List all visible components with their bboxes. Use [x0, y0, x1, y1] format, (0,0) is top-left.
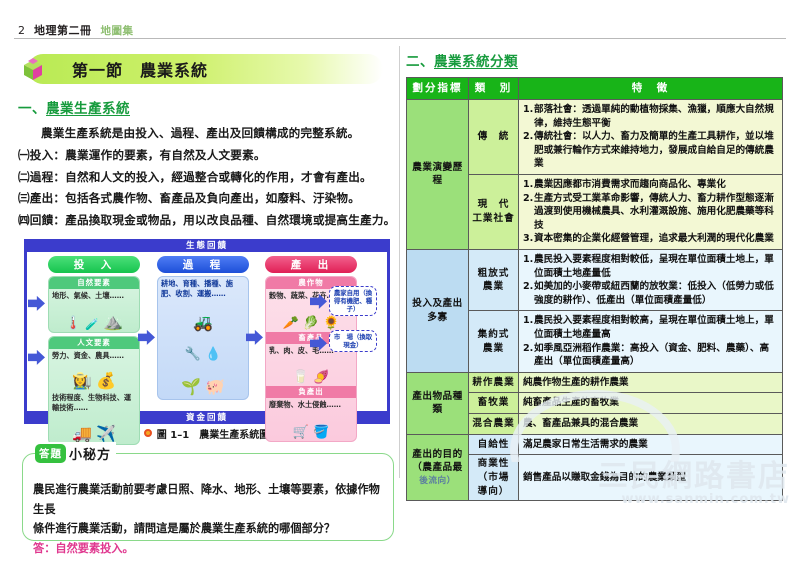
paragraph-feedback: ㈣回饋：產品換取現金或物品，用以改良品種、自然環境或提高生產力。: [18, 211, 397, 230]
stage-output-pill: 產 出: [265, 256, 357, 273]
left-column: 第一節 農業系統 一、農業生產系統 農業生產系統是由投入、過程、產出及回饋構成的…: [14, 46, 399, 556]
feedback-arrow-bottom: [28, 350, 45, 365]
cabbage-icon: 🥬: [303, 317, 319, 330]
stage-input-pill: 投 入: [48, 256, 140, 273]
paragraph-input: ㈠投入：農業運作的要素，有自然及人文要素。: [18, 146, 397, 165]
header-criterion: 劃分指標: [407, 78, 469, 100]
tip-answer: 答：自然要素投入。: [33, 539, 385, 559]
features-intensive: 1.農民投入要素程度相對較高，呈現在單位面積土地上，單位面積土地產量高 2.如季…: [519, 311, 783, 372]
features-cropping: 純農作物生產的耕作農業: [519, 372, 783, 393]
airplane-icon: ✈️: [96, 426, 116, 442]
input-natural-icons: 🌡️ 🧪 ⛰️: [49, 302, 139, 332]
money-bag-icon: 💰: [96, 373, 116, 389]
category-livestock: 畜牧業: [469, 393, 519, 414]
page-number: 2: [18, 24, 25, 37]
tip-title: 小秘方: [69, 444, 111, 463]
right-column: 二、農業系統分類 劃分指標 類 別 特 徵 農業演變歷程 傳 統 1.部落: [404, 46, 789, 556]
category-traditional: 傳 統: [469, 99, 519, 174]
input-natural-text: 地形、氣候、土壤……: [49, 289, 139, 302]
figure-caption-text: 圖 1–1 農業生產系統圖: [157, 426, 269, 441]
table-row: 農業演變歷程 傳 統 1.部落社會：透過單純的動植物採集、漁獵，順應大自然規律，…: [407, 99, 783, 174]
list-item: 1.農民投入要素程度相對較高，呈現在單位面積土地上，單位面積土地產量高: [523, 314, 778, 341]
list-item: 1.部落社會：透過單純的動植物採集、漁獵，順應大自然規律，維持生態平衡: [523, 103, 778, 130]
input-human-icons: 👩‍🌾 💰: [49, 361, 139, 391]
column-divider: [399, 46, 400, 478]
tip-question-line-2: 條件進行農業活動，請問這是屬於農業生產系統的哪個部分？: [33, 519, 385, 539]
thermometer-icon: 🌡️: [65, 317, 81, 330]
category-intensive: 集約式 農業: [469, 311, 519, 372]
category-mixed: 混合農業: [469, 414, 519, 435]
criterion-input-output: 投入及產出多寡: [407, 250, 469, 373]
output-box-market: 市 場（換取現金）: [329, 330, 377, 352]
caption-dot-icon: [144, 429, 152, 437]
subsection-2-number: 二、: [406, 54, 434, 70]
tip-badge: 答題: [35, 444, 66, 463]
section-title: 第一節 農業系統: [72, 57, 208, 81]
table-header-row: 劃分指標 類 別 特 徵: [407, 78, 783, 100]
header-category: 類 別: [469, 78, 519, 100]
feedback-arrow-top: [28, 296, 45, 311]
subsection-1-text: 農業生產系統: [46, 101, 130, 117]
watering-can-icon: 💧: [205, 348, 221, 361]
process-icons-bottom: 🌱 🐖: [158, 363, 248, 397]
tip-box: 答題 小秘方 農民進行農業活動前要考慮日照、降水、地形、土壤等要素，依據作物生長…: [22, 453, 394, 541]
list-item: 3.資本密集的企業化經營管理，追求最大利潤的現代化農業: [523, 232, 778, 246]
tip-question-line-1: 農民進行農業活動前要考慮日照、降水、地形、土壤等要素，依據作物生長: [33, 480, 385, 519]
table-row: 產出物品種類 耕作農業 純農作物生產的耕作農業: [407, 372, 783, 393]
output-negative-text: 廢棄物、水土侵蝕……: [266, 398, 356, 411]
features-traditional: 1.部落社會：透過單純的動植物採集、漁獵，順應大自然規律，維持生態平衡 2.傳統…: [519, 99, 783, 174]
category-commercial: 商業性 （市場 導向）: [469, 455, 519, 501]
section-banner: 第一節 農業系統: [28, 54, 383, 84]
subsection-2-text: 農業系統分類: [434, 54, 518, 70]
classification-table: 劃分指標 類 別 特 徵 農業演變歷程 傳 統 1.部落社會：透過單純的動植物採…: [406, 77, 783, 501]
features-subsistence: 滿足農家日常生活需求的農業: [519, 434, 783, 455]
list-item: 2.傳統社會：以人力、畜力及簡單的生產工具耕作，並以堆肥或兼行輪作方式來維持地力…: [523, 130, 778, 171]
tip-body: 農民進行農業活動前要考慮日照、降水、地形、土壤等要素，依據作物生長 條件進行農業…: [33, 480, 385, 558]
table-row: 產出的目的（農產品最 後流向） 自給性 滿足農家日常生活需求的農業: [407, 434, 783, 455]
carrot-icon: 🥕: [283, 317, 299, 330]
input-card-natural: 自然要素 地形、氣候、土壤…… 🌡️ 🧪 ⛰️: [48, 276, 140, 333]
pig-icon: 🐖: [205, 379, 225, 395]
input-human-header: 人文要素: [49, 337, 139, 349]
table-row: 投入及產出多寡 粗放式 農業 1.農民投入要素程度相對較低，呈現在單位面積土地上…: [407, 250, 783, 311]
process-card: 耕地、育種、播種、施肥、收割、運搬…… 🚜 🔧 💧 🌱 🐖: [157, 276, 249, 400]
subsection-1-heading: 一、農業生產系統: [18, 97, 399, 117]
meat-icon: 🍠: [313, 371, 329, 384]
subsection-1-number: 一、: [18, 101, 46, 117]
stage-process-pill: 過 程: [157, 256, 249, 273]
output-negative-icons: 🛒 🪣: [266, 411, 356, 441]
output-negative-header: 負產出: [266, 386, 356, 398]
textbook-page: 2 地理第二冊 地圖集 第一節 農業系統 一、農業生產系統 農業生產系統是由投入…: [0, 0, 800, 565]
soil-mound-icon: ⛰️: [103, 314, 123, 330]
tip-box-tab: 答題 小秘方: [35, 442, 116, 466]
figure-inner: 投 入 自然要素 地形、氣候、土壤…… 🌡️ 🧪 ⛰️ 人文要素 勞力、資金、農…: [24, 252, 390, 411]
criterion-evolution: 農業演變歷程: [407, 99, 469, 249]
output-box-home-use: 農家自用（換得有機肥、種子）: [329, 286, 377, 316]
list-item: 2.如美加的小麥帶或紐西蘭的放牧業：低投入（低勞力或低強度的耕作）、低產出（單位…: [523, 280, 778, 307]
sunflower-icon: 🌻: [323, 317, 339, 330]
category-subsistence: 自給性: [469, 434, 519, 455]
input-card-human: 人文要素 勞力、資金、農具…… 👩‍🌾 💰 技術程度、生物科技、運輸技術…… 🚚…: [48, 336, 140, 445]
criterion-output-type: 產出物品種類: [407, 372, 469, 434]
process-icons-top: 🚜: [158, 299, 248, 333]
input-to-process-arrow: [138, 330, 155, 345]
features-extensive: 1.農民投入要素程度相對較低，呈現在單位面積土地上，單位面積土地產量低 2.如美…: [519, 250, 783, 311]
criterion-output-purpose: 產出的目的（農產品最 後流向）: [407, 434, 469, 500]
header-divider: [14, 38, 786, 39]
farmer-icon: 👩‍🌾: [72, 373, 92, 389]
category-cropping: 耕作農業: [469, 372, 519, 393]
truck-icon: 🚚: [72, 426, 92, 442]
cube-icon: [20, 56, 48, 82]
figure-stage-process: 過 程 耕地、育種、播種、施肥、收割、運搬…… 🚜 🔧 💧 🌱 🐖: [157, 256, 249, 400]
features-livestock: 純畜產品生產的畜牧業: [519, 393, 783, 414]
list-item: 1.農業因應都市消費需求而趨向商品化、專業化: [523, 178, 778, 192]
paragraph-output: ㈢產出：包括各式農作物、畜產品及負向產出，如廢料、汙染物。: [18, 189, 397, 208]
criterion-output-purpose-sub: 後流向）: [409, 475, 466, 487]
features-commercial: 銷售產品以賺取金錢為目的的農業類型: [519, 455, 783, 501]
tractor-icon: 🚜: [193, 315, 213, 331]
features-mixed: 農、畜產品兼具的混合農業: [519, 414, 783, 435]
process-text: 耕地、育種、播種、施肥、收割、運搬……: [158, 277, 248, 299]
output-livestock-icons: 🥛 🍠: [266, 356, 356, 386]
criterion-output-purpose-main: 產出的目的（農產品最: [409, 448, 466, 475]
features-modern-industrial: 1.農業因應都市消費需求而趨向商品化、專業化 2.生產方式受工業革命影響，傳統人…: [519, 174, 783, 249]
list-item: 2.如季風亞洲稻作農業：高投入（資金、肥料、農藥）、高產出（單位面積產量高）: [523, 342, 778, 369]
list-item: 2.生產方式受工業革命影響，傳統人力、畜力耕作型態逐漸過渡到使用機械農具、水利灌…: [523, 192, 778, 233]
input-natural-header: 自然要素: [49, 277, 139, 289]
bucket-icon: 🪣: [313, 426, 329, 439]
input-human-text: 勞力、資金、農具……: [49, 349, 139, 362]
category-modern-industrial: 現 代 工業社會: [469, 174, 519, 249]
subsection-2-heading: 二、農業系統分類: [406, 50, 789, 70]
rain-gauge-icon: 🧪: [85, 319, 99, 330]
running-head: 2 地理第二冊 地圖集: [18, 22, 134, 38]
milk-glass-icon: 🥛: [293, 371, 309, 384]
process-icons-mid: 🔧 💧: [158, 333, 248, 363]
list-item: 1.農民投入要素程度相對較低，呈現在單位面積土地上，單位面積土地產量低: [523, 253, 778, 280]
input-tech-icons: 🚚 ✈️: [49, 414, 139, 444]
paragraph-intro: 農業生產系統是由投入、過程、產出及回饋構成的完整系統。: [18, 124, 397, 143]
category-extensive: 粗放式 農業: [469, 250, 519, 311]
subject-tag: 地圖集: [101, 23, 134, 38]
wheelbarrow-icon: 🛒: [293, 426, 309, 439]
input-tech-text: 技術程度、生物科技、運輸技術……: [49, 391, 139, 413]
header-features: 特 徵: [519, 78, 783, 100]
agriculture-system-figure: 生態回饋 資金回饋 投 入 自然要素 地形、氣候、土壤…… 🌡️ 🧪 ⛰️: [24, 239, 390, 424]
trowel-icon: 🔧: [185, 348, 201, 361]
book-title: 地理第二冊: [34, 22, 92, 38]
paragraph-process: ㈡過程：自然和人文的投入，經過整合或轉化的作用，才會有產出。: [18, 168, 397, 187]
seedling-icon: 🌱: [181, 379, 201, 395]
figure-stage-input: 投 入 自然要素 地形、氣候、土壤…… 🌡️ 🧪 ⛰️ 人文要素 勞力、資金、農…: [48, 256, 140, 445]
figure-top-bar: 生態回饋: [24, 239, 390, 252]
